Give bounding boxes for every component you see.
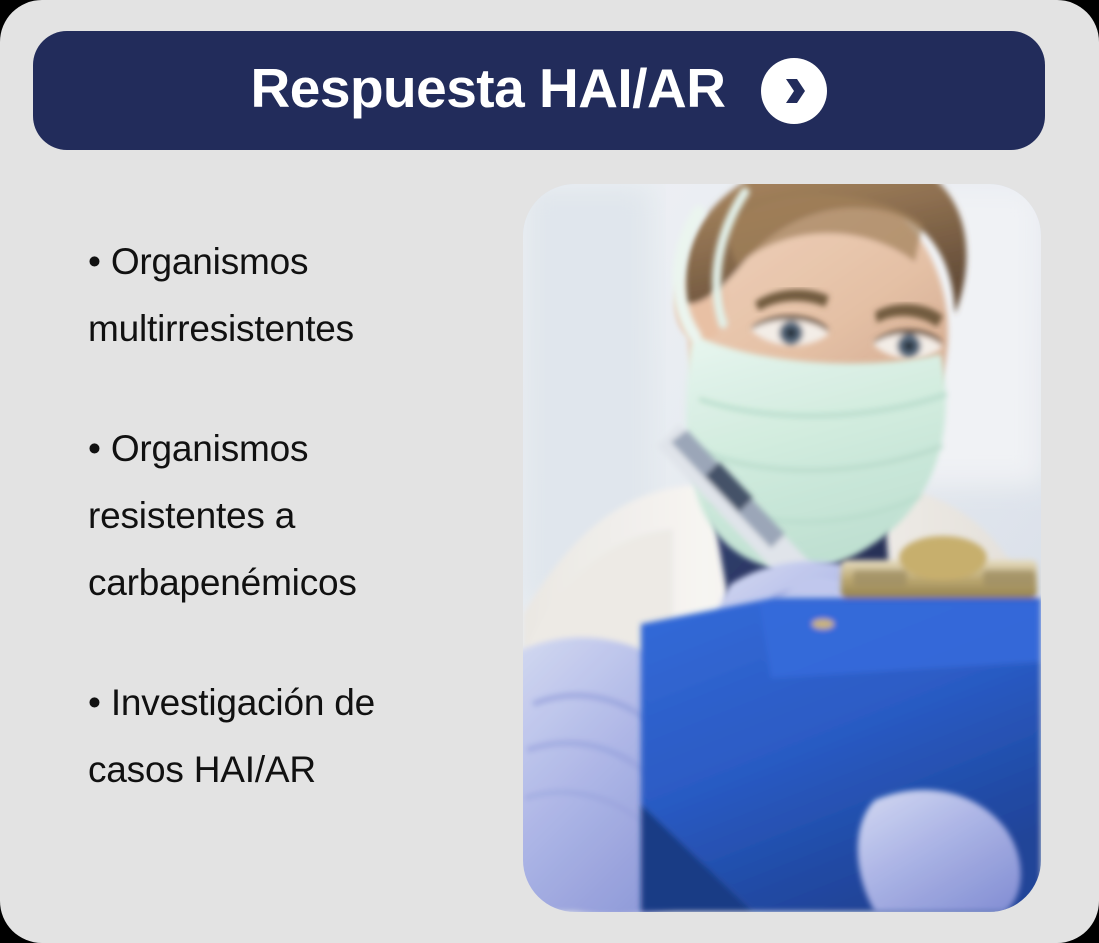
next-arrow-button[interactable]	[761, 58, 827, 124]
list-item: • Organismos multirresistentes	[88, 228, 508, 363]
chevron-right-icon	[777, 74, 811, 108]
bullet-list: • Organismos multirresistentes • Organis…	[88, 228, 508, 803]
list-item: • Organismos resistentes a carbapenémico…	[88, 415, 508, 617]
header-banner: Respuesta HAI/AR	[33, 31, 1045, 150]
list-item: • Investigación de casos HAI/AR	[88, 669, 508, 804]
slide-card: Respuesta HAI/AR • Organismos multirresi…	[0, 0, 1099, 943]
page-title: Respuesta HAI/AR	[251, 61, 726, 120]
photo-illustration	[523, 184, 1041, 912]
photo-healthcare-worker	[523, 184, 1041, 912]
